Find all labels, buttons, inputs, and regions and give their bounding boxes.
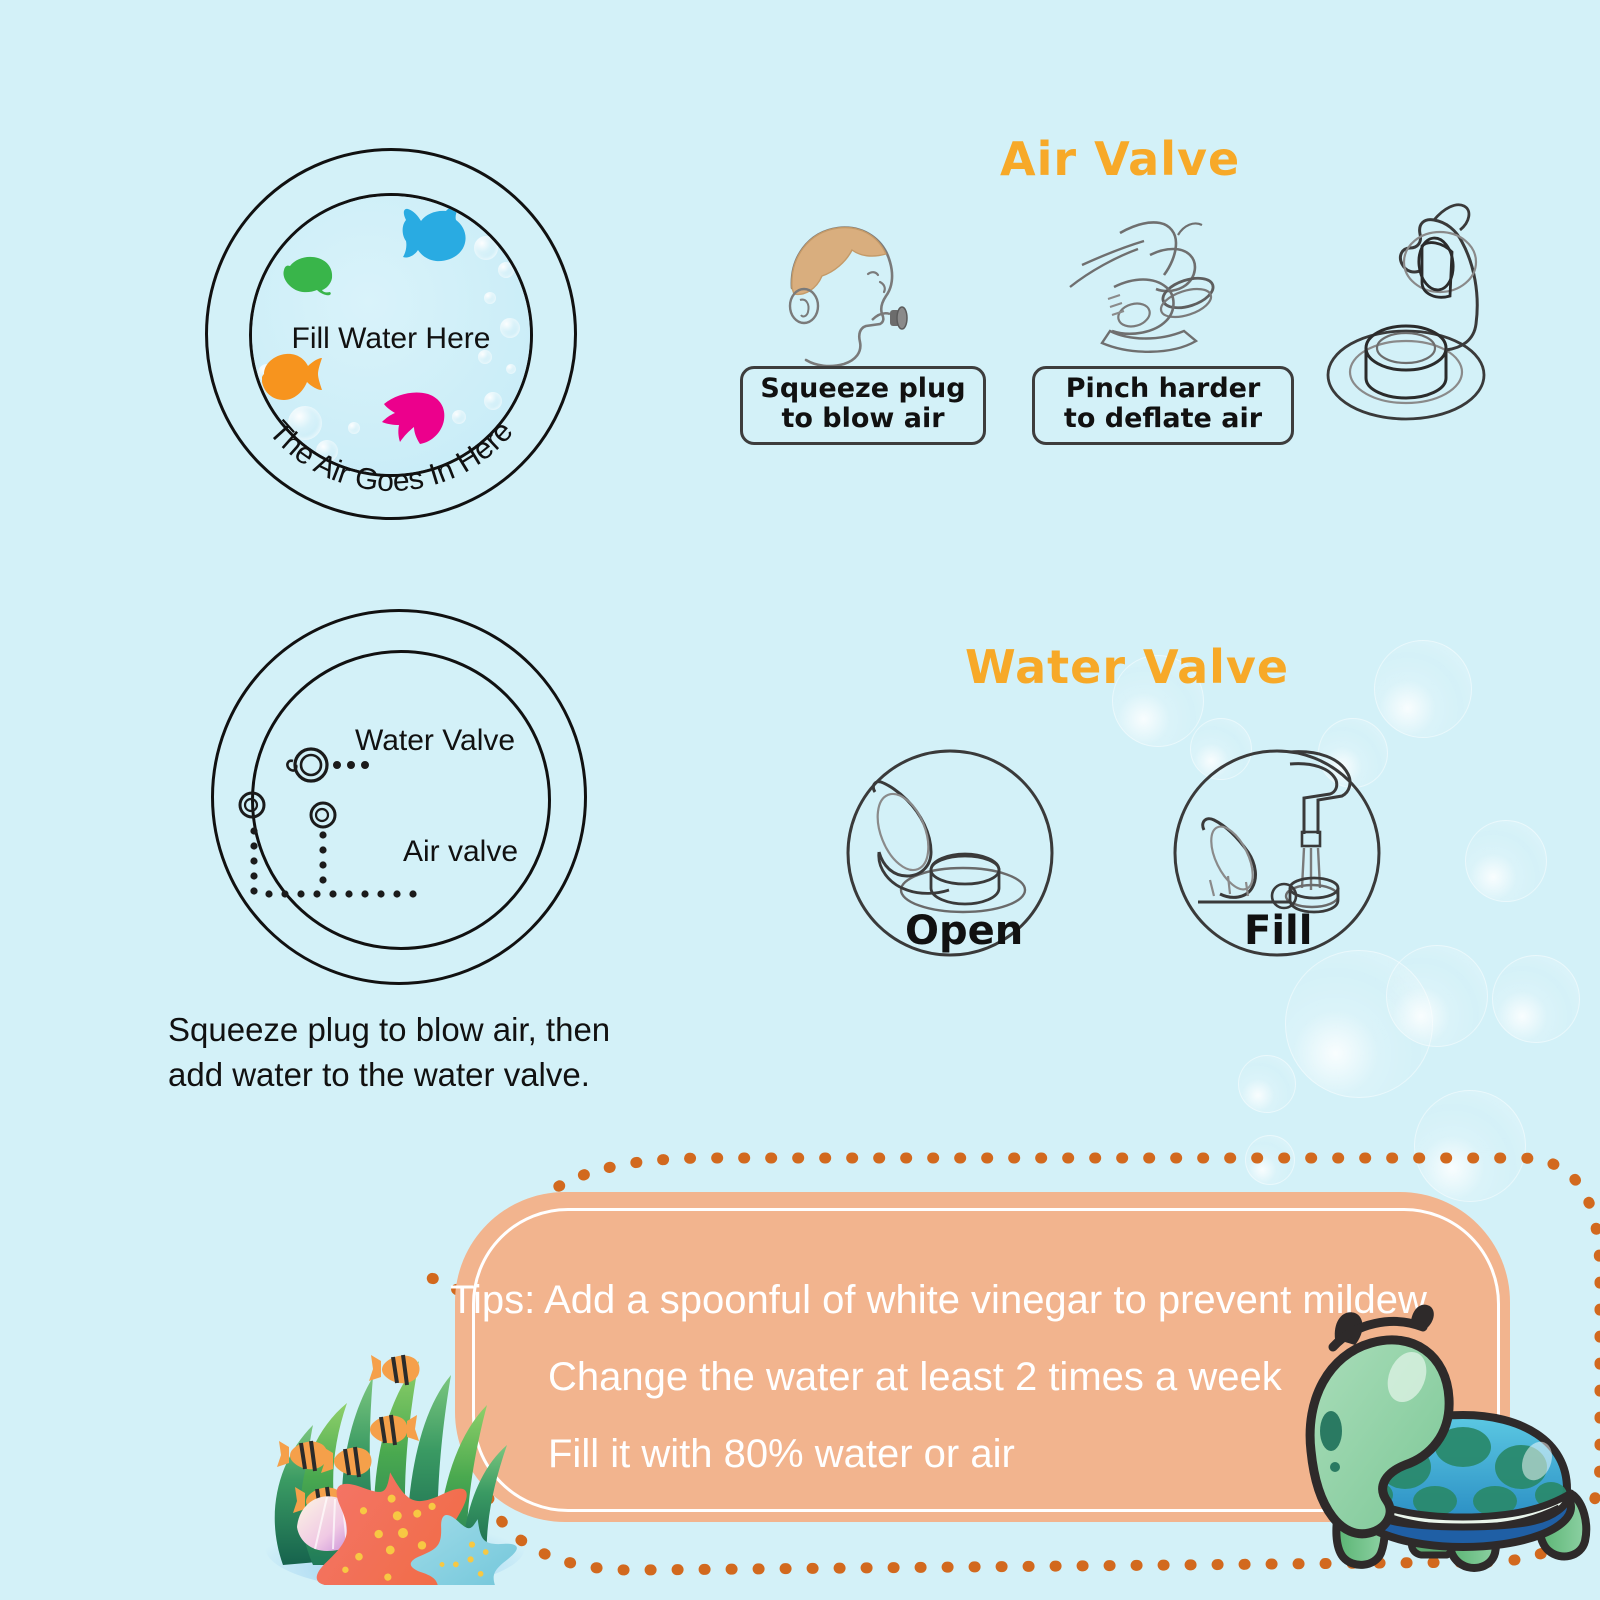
squeeze-plug-caption-line1: Squeeze plug	[757, 374, 969, 404]
curved-text: The Air Goes In Here	[263, 415, 520, 498]
squeeze-plug-caption: Squeeze plug to blow air	[740, 366, 986, 445]
water-valve-fill-illustration: Fill	[1172, 748, 1382, 958]
background-bubble	[1492, 955, 1580, 1043]
background-bubble	[1465, 820, 1547, 902]
pinching-hand-illustration	[1060, 215, 1250, 380]
air-valve-map-label: Air valve	[403, 835, 518, 869]
the-air-goes-in-here-curved-label: The Air Goes In Here	[205, 148, 577, 520]
open-label-text: Open	[905, 908, 1023, 954]
background-bubble	[1238, 1055, 1296, 1113]
instruction-text: Squeeze plug to blow air, then add water…	[168, 1008, 610, 1097]
pinch-harder-caption-line1: Pinch harder	[1049, 374, 1277, 404]
tips-line-3: Fill it with 80% water or air	[548, 1434, 1015, 1474]
water-valve-heading: Water Valve	[965, 640, 1289, 694]
water-valve-open-illustration: Open	[845, 748, 1055, 958]
pinch-harder-caption: Pinch harder to deflate air	[1032, 366, 1294, 445]
background-bubble	[1386, 945, 1488, 1047]
turtle-mascot	[1295, 1295, 1600, 1595]
fill-label-text: Fill	[1244, 908, 1312, 954]
tips-line-1: Tips: Add a spoonful of white vinegar to…	[450, 1280, 1427, 1320]
instruction-line2: add water to the water valve.	[168, 1053, 610, 1098]
infographic-canvas: Fill Water Here The Air Goes In Here Air…	[0, 0, 1600, 1600]
valve-map-pointers	[211, 609, 587, 985]
svg-text:The Air Goes In Here: The Air Goes In Here	[263, 415, 520, 498]
background-bubble	[1374, 640, 1472, 738]
seaweed-decoration	[255, 1265, 555, 1585]
instruction-line1: Squeeze plug to blow air, then	[168, 1008, 610, 1053]
air-valve-heading: Air Valve	[1000, 132, 1240, 186]
water-valve-map-label: Water Valve	[355, 724, 515, 758]
squeeze-plug-caption-line2: to blow air	[757, 404, 969, 434]
tips-line-2: Change the water at least 2 times a week	[548, 1357, 1282, 1397]
air-valve-plug-illustration	[1310, 190, 1520, 430]
head-blowing-illustration	[760, 210, 940, 385]
pinch-harder-caption-line2: to deflate air	[1049, 404, 1277, 434]
